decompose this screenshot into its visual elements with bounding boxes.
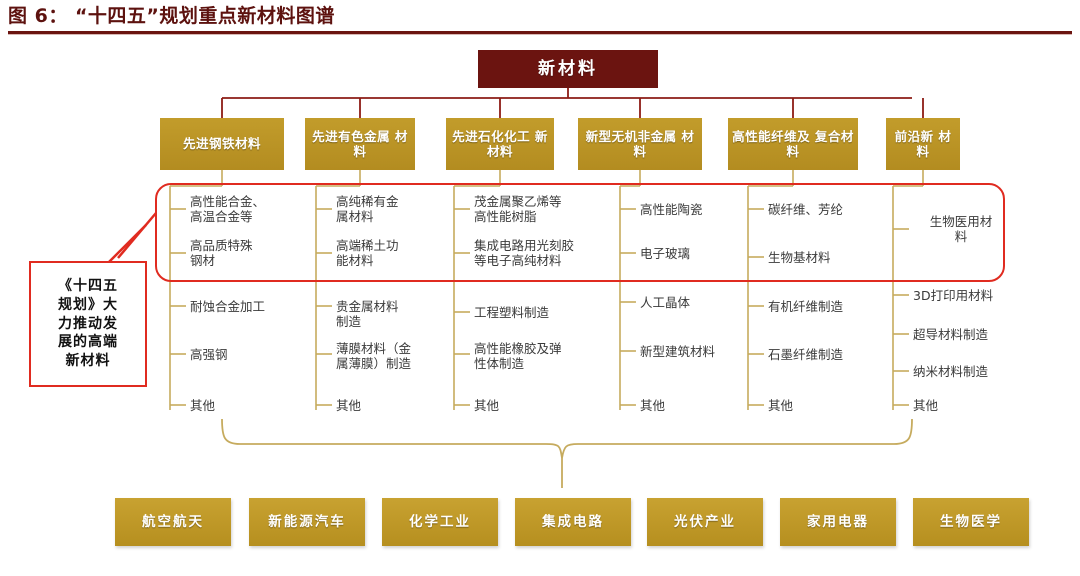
category-node-petrochemical[interactable]: 先进石化化工 新材料: [446, 118, 554, 170]
leaf-item[interactable]: 人工晶体: [640, 295, 752, 310]
leaf-item[interactable]: 高端稀土功 能材料: [336, 238, 448, 269]
leaf-item[interactable]: 集成电路用光刻胶 等电子高纯材料: [474, 238, 610, 269]
leaf-item[interactable]: 茂金属聚乙烯等 高性能树脂: [474, 194, 610, 225]
leaf-item[interactable]: 其他: [190, 398, 302, 413]
leaf-item[interactable]: 其他: [640, 398, 752, 413]
leaf-item[interactable]: 生物基材料: [768, 250, 892, 265]
application-node-home-appliances[interactable]: 家用电器: [780, 498, 896, 546]
application-node-integrated-circuits[interactable]: 集成电路: [515, 498, 631, 546]
leaf-item[interactable]: 纳米材料制造: [913, 364, 1037, 379]
leaf-item[interactable]: 高性能陶瓷: [640, 202, 752, 217]
leaf-item[interactable]: 高性能橡胶及弹 性体制造: [474, 341, 610, 372]
leaf-item[interactable]: 新型建筑材料: [640, 344, 756, 359]
leaf-item[interactable]: 高纯稀有金 属材料: [336, 194, 448, 225]
category-node-frontier[interactable]: 前沿新 材料: [886, 118, 960, 170]
leaf-item[interactable]: 电子玻璃: [640, 246, 752, 261]
leaf-item[interactable]: 超导材料制造: [913, 327, 1037, 342]
leaf-item[interactable]: 耐蚀合金加工: [190, 299, 308, 314]
leaf-item[interactable]: 碳纤维、芳纶: [768, 202, 892, 217]
category-node-nonferrous[interactable]: 先进有色金属 材料: [305, 118, 415, 170]
leaf-item[interactable]: 高强钢: [190, 347, 302, 362]
callout-box[interactable]: 《十四五 规划》大 力推动发 展的高端 新材料: [29, 261, 147, 387]
category-node-fiber-composite[interactable]: 高性能纤维及 复合材料: [728, 118, 858, 170]
application-node-chemical-industry[interactable]: 化学工业: [382, 498, 498, 546]
leaf-item[interactable]: 工程塑料制造: [474, 305, 610, 320]
leaf-item[interactable]: 其他: [768, 398, 880, 413]
application-node-aerospace[interactable]: 航空航天: [115, 498, 231, 546]
application-node-new-energy-vehicles[interactable]: 新能源汽车: [249, 498, 365, 546]
leaf-item[interactable]: 有机纤维制造: [768, 299, 892, 314]
leaf-item[interactable]: 其他: [336, 398, 448, 413]
application-node-biomedicine[interactable]: 生物医学: [913, 498, 1029, 546]
leaf-item[interactable]: 高性能合金、 高温合金等: [190, 194, 302, 225]
leaf-item[interactable]: 其他: [913, 398, 1025, 413]
leaf-item[interactable]: 贵金属材料 制造: [336, 299, 448, 330]
application-node-photovoltaic-industry[interactable]: 光伏产业: [647, 498, 763, 546]
root-node-new-materials[interactable]: 新材料: [478, 50, 658, 88]
leaf-item[interactable]: 其他: [474, 398, 586, 413]
leaf-item[interactable]: 高品质特殊 钢材: [190, 238, 302, 269]
leaf-item[interactable]: 薄膜材料（金 属薄膜）制造: [336, 341, 452, 372]
category-node-inorganic[interactable]: 新型无机非金属 材料: [578, 118, 702, 170]
category-node-steel[interactable]: 先进钢铁材料: [160, 118, 284, 170]
leaf-item[interactable]: 石墨纤维制造: [768, 347, 892, 362]
leaf-item[interactable]: 3D打印用材料: [913, 288, 1037, 303]
leaf-item[interactable]: 生物医用材 料: [915, 214, 1007, 245]
